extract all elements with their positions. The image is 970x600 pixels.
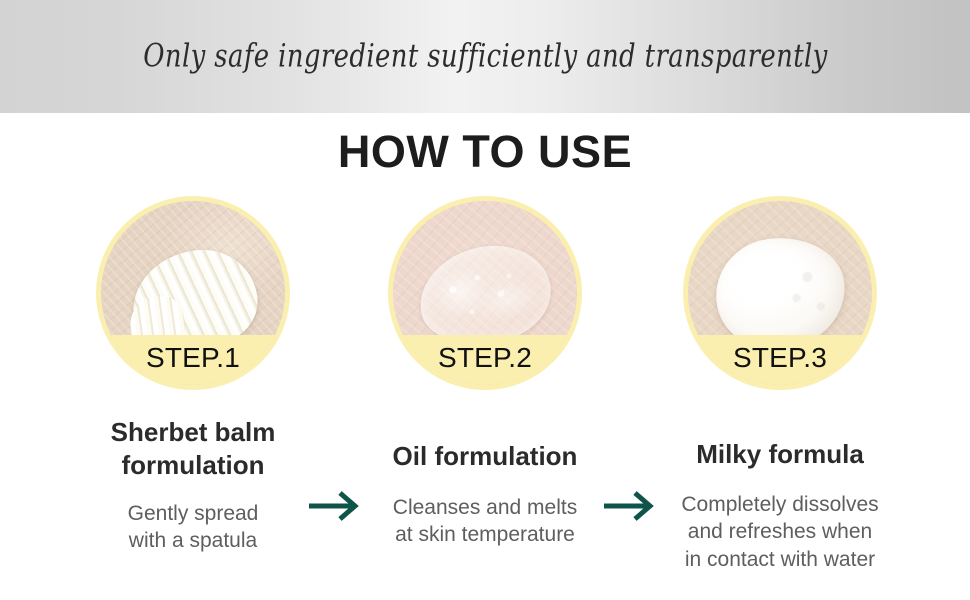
banner-tagline: Only safe ingredient sufficiently and tr…	[143, 38, 827, 75]
step-3-badge: STEP.3	[688, 335, 872, 385]
step-2-badge: STEP.2	[393, 335, 577, 385]
step-1-heading: Sherbet balm formulation	[48, 416, 338, 482]
step-3-caption: Completely dissolves and refreshes when …	[635, 491, 925, 574]
step-card-3: STEP.3 Milky formula Completely dissolve…	[635, 196, 925, 574]
step-2-circle: STEP.2	[388, 196, 582, 390]
step-card-2: STEP.2 Oil formulation Cleanses and melt…	[340, 196, 630, 549]
step-2-heading: Oil formulation	[340, 440, 630, 473]
step-2-badge-label: STEP.2	[438, 344, 532, 372]
step-1-badge: STEP.1	[101, 335, 285, 385]
step-3-badge-label: STEP.3	[733, 344, 827, 372]
step-card-1: STEP.1 Sherbet balm formulation Gently s…	[48, 196, 338, 555]
step-1-badge-label: STEP.1	[146, 344, 240, 372]
step-1-caption: Gently spread with a spatula	[48, 500, 338, 555]
steps-container: STEP.1 Sherbet balm formulation Gently s…	[0, 196, 970, 596]
step-1-circle: STEP.1	[96, 196, 290, 390]
page-title: HOW TO USE	[0, 129, 970, 174]
top-banner: Only safe ingredient sufficiently and tr…	[0, 0, 970, 113]
step-2-caption: Cleanses and melts at skin temperature	[340, 494, 630, 549]
step-3-heading: Milky formula	[635, 438, 925, 471]
step-3-circle: STEP.3	[683, 196, 877, 390]
